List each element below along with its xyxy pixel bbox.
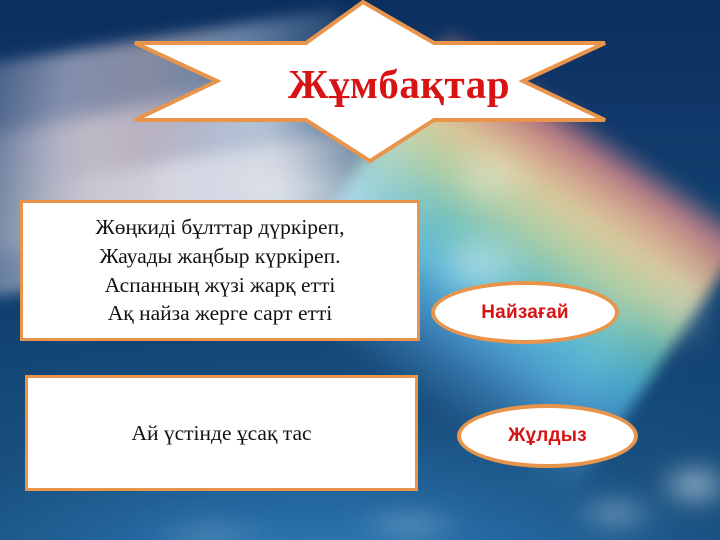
riddle-line: Аспанның жүзі жарқ етті (105, 271, 336, 300)
answer-text: Жұлдыз (508, 425, 587, 447)
answer-bubble-2[interactable]: Жұлдыз (457, 404, 638, 468)
riddle-line: Жауады жаңбыр күркіреп. (100, 242, 341, 271)
riddle-box-2: Ай үстінде ұсақ тас (25, 375, 418, 491)
answer-text: Найзағай (481, 302, 569, 324)
riddle-line: Ай үстінде ұсақ тас (131, 421, 311, 446)
slide-canvas: Жұмбақтар Жөңкиді бұлттар дүркіреп, Жауа… (0, 0, 720, 540)
riddle-line: Ақ найза жерге сарт етті (108, 299, 333, 328)
title-text: Жұмбақтар (128, 0, 612, 168)
title-banner: Жұмбақтар (128, 0, 612, 168)
riddle-line: Жөңкиді бұлттар дүркіреп, (96, 213, 345, 242)
answer-bubble-1[interactable]: Найзағай (431, 281, 619, 344)
riddle-box-1: Жөңкиді бұлттар дүркіреп, Жауады жаңбыр … (20, 200, 420, 341)
